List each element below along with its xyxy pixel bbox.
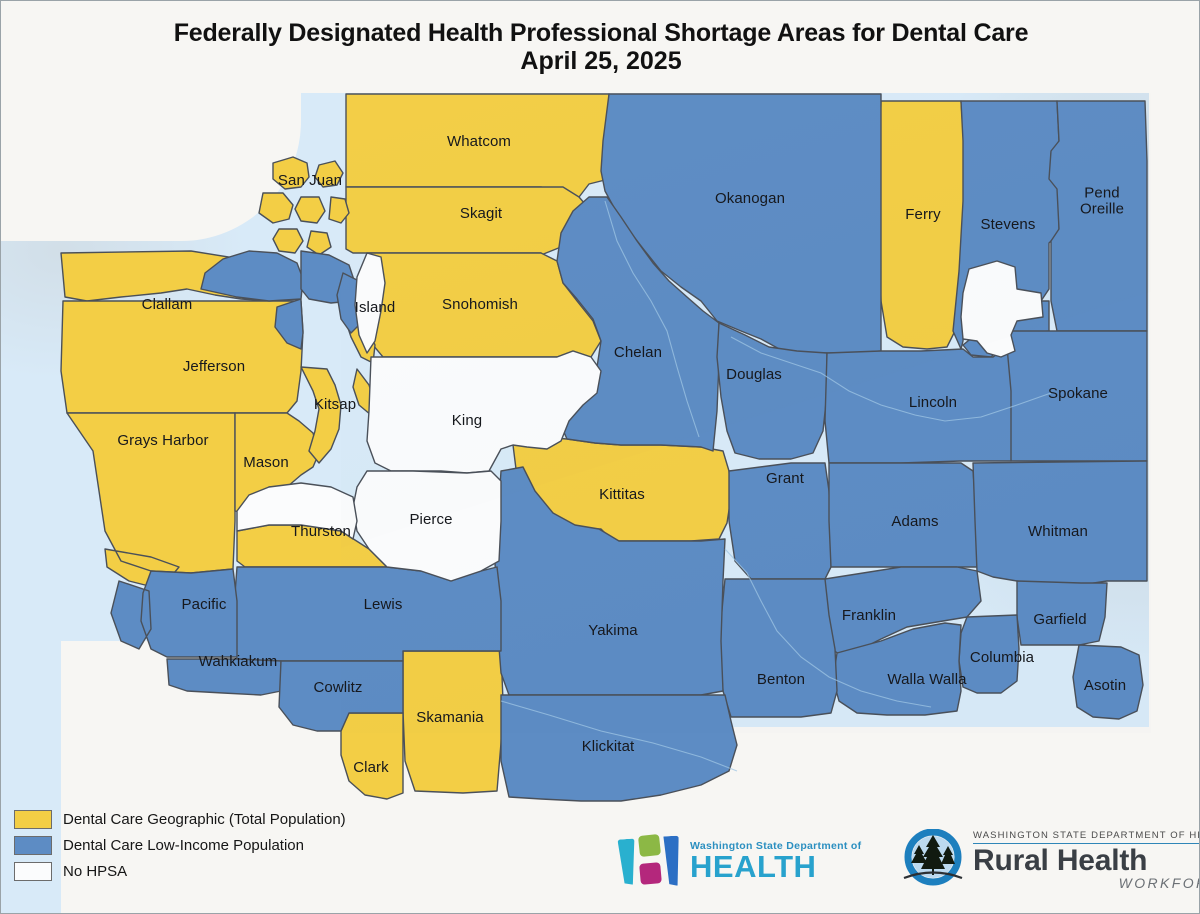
county-label-mason: Mason: [243, 455, 289, 471]
county-label-spokane: Spokane: [1048, 386, 1108, 402]
county-label-douglas: Douglas: [726, 367, 782, 383]
county-label-clallam: Clallam: [142, 297, 193, 313]
legend-swatch-no-hpsa: [14, 862, 52, 881]
county-label-klickitat: Klickitat: [582, 739, 635, 755]
rural-health-title: Rural Health: [973, 846, 1200, 876]
legend-row-no-hpsa[interactable]: No HPSA: [14, 859, 346, 884]
county-label-snohomish: Snohomish: [442, 297, 518, 313]
county-label-ferry: Ferry: [905, 207, 941, 223]
county-label-okanogan: Okanogan: [715, 191, 785, 207]
county-label-pacific: Pacific: [182, 597, 227, 613]
washington-doh-logo[interactable]: Washington State Department of HEALTH: [619, 835, 861, 887]
doh-logo-wordmark: Washington State Department of HEALTH: [690, 840, 861, 882]
county-label-grant: Grant: [766, 471, 804, 487]
map-legend: Dental Care Geographic (Total Population…: [14, 807, 346, 885]
county-jefferson[interactable]: [61, 301, 303, 413]
county-label-franklin: Franklin: [842, 608, 896, 624]
county-label-clark: Clark: [353, 760, 389, 776]
doh-logo-green-square: [638, 834, 661, 857]
county-label-skagit: Skagit: [460, 206, 502, 222]
rural-health-subtitle: WASHINGTON STATE DEPARTMENT OF HEALTH: [973, 830, 1200, 844]
county-label-columbia: Columbia: [970, 650, 1034, 666]
county-label-asotin: Asotin: [1084, 678, 1126, 694]
county-clark[interactable]: [341, 713, 403, 799]
legend-row-geographic[interactable]: Dental Care Geographic (Total Population…: [14, 807, 346, 832]
county-label-adams: Adams: [891, 514, 938, 530]
county-label-benton: Benton: [757, 672, 805, 688]
county-label-island: Island: [355, 300, 396, 316]
rural-health-tagline: WORKFORCE: [973, 875, 1200, 891]
washington-county-map: [1, 1, 1200, 914]
county-label-garfield: Garfield: [1033, 612, 1086, 628]
doh-logo-title: HEALTH: [690, 853, 861, 882]
county-label-san-juan: San Juan: [278, 173, 342, 189]
doh-logo-teal-wedge: [617, 838, 637, 885]
county-lewis[interactable]: [233, 567, 501, 661]
legend-label-low-income: Dental Care Low-Income Population: [63, 837, 304, 854]
county-label-pierce: Pierce: [409, 512, 452, 528]
county-label-wahkiakum: Wahkiakum: [199, 654, 278, 670]
county-label-skamania: Skamania: [416, 710, 484, 726]
county-label-lewis: Lewis: [364, 597, 403, 613]
county-label-king: King: [452, 413, 482, 429]
county-label-kittitas: Kittitas: [599, 487, 645, 503]
county-label-stevens: Stevens: [981, 217, 1036, 233]
county-label-pend-oreille: Pend Oreille: [1072, 185, 1132, 217]
legend-label-no-hpsa: No HPSA: [63, 863, 127, 880]
county-label-kitsap: Kitsap: [314, 397, 356, 413]
county-label-yakima: Yakima: [588, 623, 638, 639]
county-label-whatcom: Whatcom: [447, 134, 511, 150]
county-label-chelan: Chelan: [614, 345, 662, 361]
rural-health-workforce-logo[interactable]: WASHINGTON STATE DEPARTMENT OF HEALTH Ru…: [901, 829, 1200, 891]
county-label-walla-walla: Walla Walla: [887, 672, 966, 688]
county-label-thurston: Thurston: [291, 524, 351, 540]
county-benton[interactable]: [719, 579, 837, 717]
county-label-lincoln: Lincoln: [909, 395, 957, 411]
rural-health-trees-svg: [901, 829, 965, 891]
county-ferry[interactable]: [879, 101, 965, 349]
rural-health-wordmark: WASHINGTON STATE DEPARTMENT OF HEALTH Ru…: [973, 830, 1200, 891]
doh-logo-blue-wedge: [662, 836, 682, 887]
legend-swatch-geographic: [14, 810, 52, 829]
map-page: Federally Designated Health Professional…: [0, 0, 1200, 914]
legend-row-low-income[interactable]: Dental Care Low-Income Population: [14, 833, 346, 858]
doh-logo-mark-icon: [619, 835, 681, 887]
legend-swatch-low-income: [14, 836, 52, 855]
doh-logo-magenta-square: [639, 862, 662, 885]
county-label-cowlitz: Cowlitz: [313, 680, 362, 696]
legend-label-geographic: Dental Care Geographic (Total Population…: [63, 811, 346, 828]
rural-health-trees-icon: [901, 829, 965, 891]
county-label-whitman: Whitman: [1028, 524, 1088, 540]
county-label-grays-harbor: Grays Harbor: [117, 433, 208, 449]
county-label-jefferson: Jefferson: [183, 359, 245, 375]
